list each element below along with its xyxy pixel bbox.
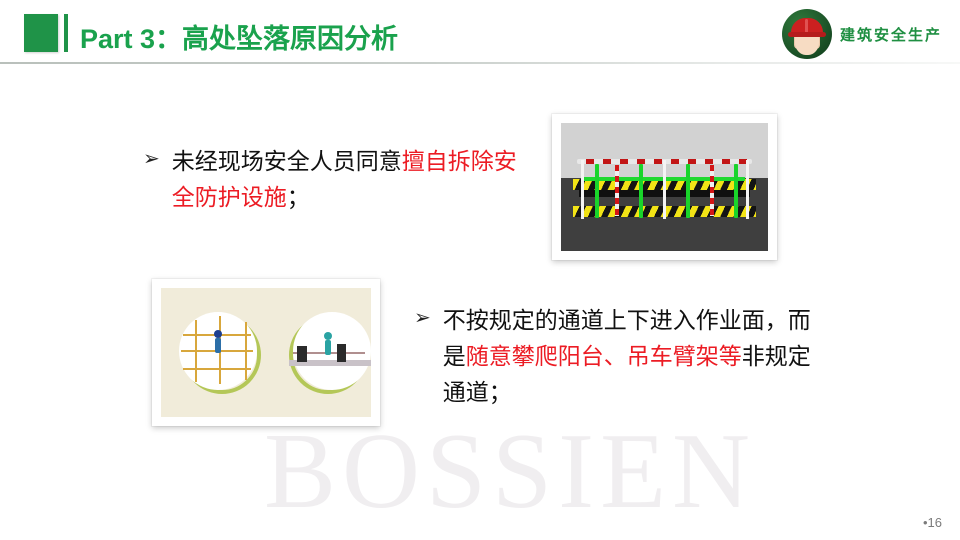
green-post-3 [686,164,690,218]
bullet-1-seg-4: ； [287,184,310,210]
page-number: •16 [923,515,942,530]
brand-text: 建筑安全生产 [840,24,942,45]
green-square-marker-icon [24,14,58,52]
white-post-2 [663,160,666,219]
access-route-canvas [161,288,371,417]
helmet-crest [805,19,808,33]
construction-worker-helmet-icon [782,9,832,59]
green-post-2 [639,164,643,218]
scaffold-rail-3 [183,368,251,370]
page-title: Part 3：高处坠落原因分析 [80,17,398,56]
scaffold-photo-canvas [561,123,768,251]
equipment-box-left [297,346,307,362]
access-route-illustration [152,279,380,426]
climbing-worker-head [214,330,222,338]
bullet-2-seg-4: 臂架等 [673,343,742,369]
walking-worker-body [325,340,331,355]
platform-structure [573,158,755,222]
bullet-arrow-icon: ➢ [414,303,431,334]
white-post-1 [581,160,584,219]
bullet-arrow-icon: ➢ [143,144,160,175]
brand-logo: 建筑安全生产 [782,8,942,60]
bullet-item-2: ➢ 不按规定的通道上下进入作业面，而是随意攀爬阳台、吊车臂架等非规定通道； [414,303,814,411]
equipment-box-right [337,344,346,362]
green-bar-divider-icon [64,14,68,52]
watermark-text: BOSSIEN [0,418,960,526]
bullet-1-seg-2: 擅自拆 [402,148,471,174]
white-post-3 [746,160,749,219]
red-white-post-1 [615,165,619,216]
red-white-post-2 [710,165,714,216]
bullet-1-seg-1: 未经现场安全人员同意 [172,148,402,174]
climbing-worker-body [215,338,221,353]
walking-worker-head [324,332,332,340]
bullet-1-text: 未经现场安全人员同意擅自拆除安全防护设施； [172,144,523,216]
bullet-2-seg-1: 不按规定的通道上下进入作业 [443,307,742,333]
green-post-1 [595,164,599,218]
slide-root: BOSSIEN Part 3：高处坠落原因分析 建筑安全生产 ➢ 未经现场安全人… [0,0,960,540]
helmet-brim [788,32,826,37]
header-divider [0,62,960,64]
green-post-4 [734,164,738,218]
scaffold-safety-platform-photo [552,114,777,260]
bullet-2-text: 不按规定的通道上下进入作业面，而是随意攀爬阳台、吊车臂架等非规定通道； [443,303,814,411]
bullet-item-1: ➢ 未经现场安全人员同意擅自拆除安全防护设施； [143,144,523,216]
bullet-2-seg-3: 随意攀爬阳台、吊车 [466,343,673,369]
